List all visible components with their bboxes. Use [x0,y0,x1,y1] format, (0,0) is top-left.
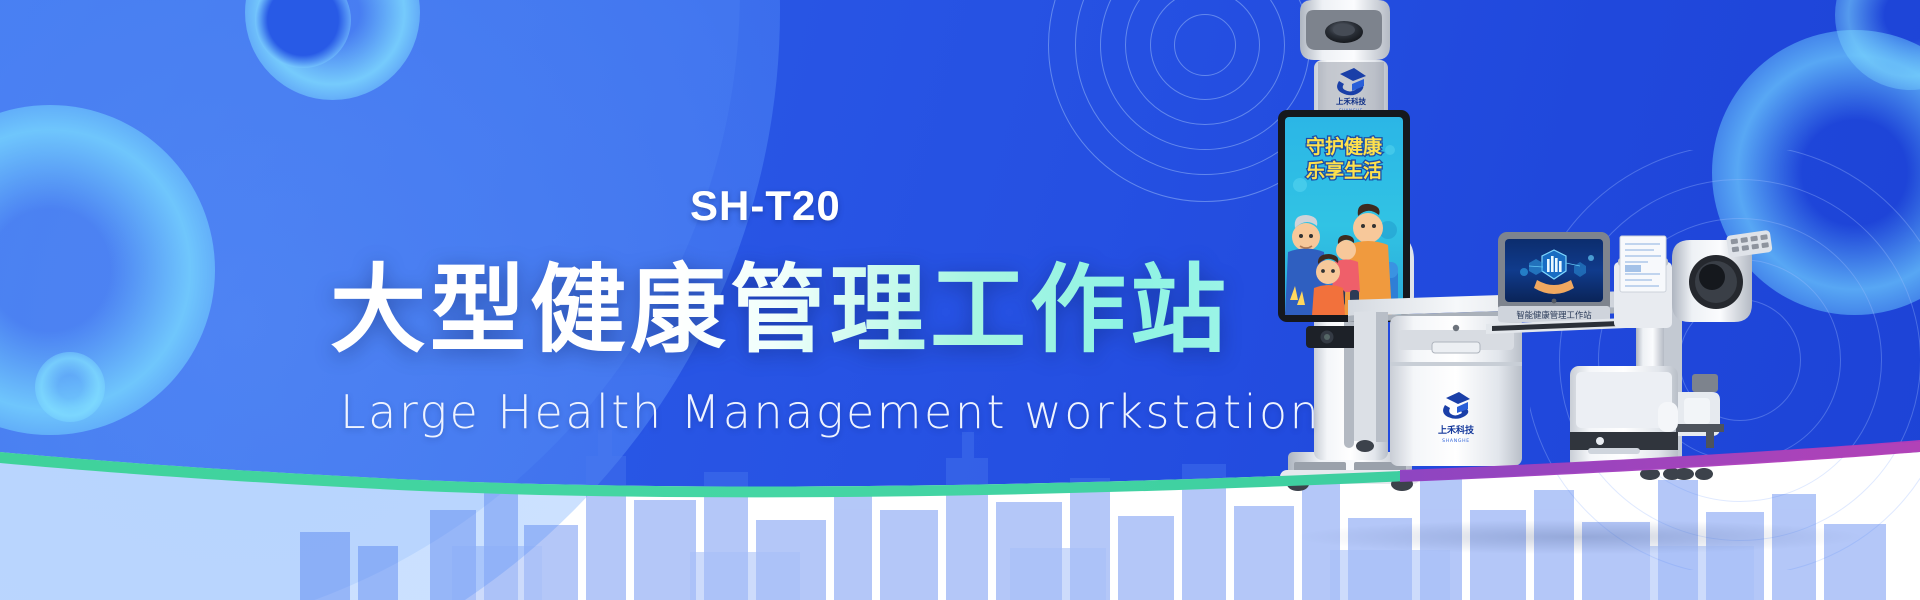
banner-title-chinese: 大型健康管理工作站 [330,232,1230,371]
banner-title-english: Large Health Management workstation [340,385,1321,439]
banner-copy-block: SH-T20 大型健康管理工作站 Large Health Management… [0,0,1920,600]
product-hero-banner: 上禾科技 SHANGHE 守护健康 乐享生活 [0,0,1920,600]
model-code-text: SH-T20 [690,182,841,230]
